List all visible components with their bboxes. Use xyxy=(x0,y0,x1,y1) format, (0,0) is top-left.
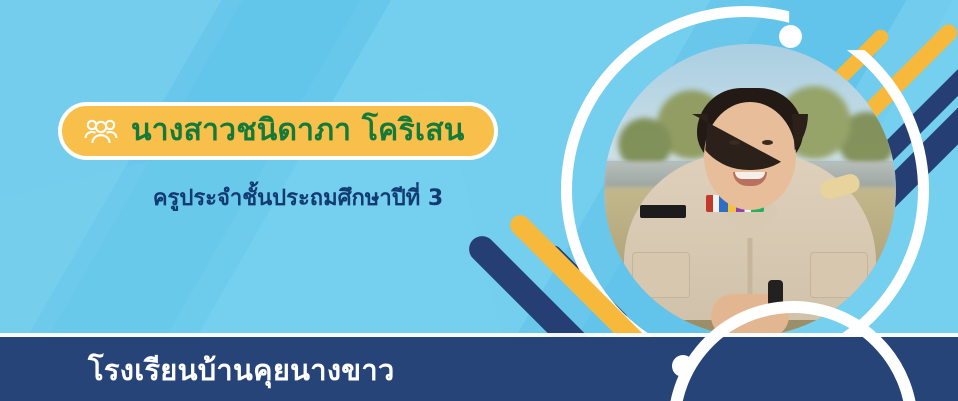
school-name: โรงเรียนบ้านคุยนางขาว xyxy=(88,347,395,393)
white-dot-icon xyxy=(779,25,802,48)
white-dot-icon xyxy=(672,355,694,377)
teacher-name-badge: นางสาวชนิดาภา โคริเสน xyxy=(58,102,498,160)
teacher-profile-banner: นางสาวชนิดาภา โคริเสน ครูประจำชั้นประถมศ… xyxy=(0,0,958,401)
people-group-icon xyxy=(84,116,118,146)
teacher-name: นางสาวชนิดาภา โคริเสน xyxy=(131,116,464,146)
teacher-role-subtitle: ครูประจำชั้นประถมศึกษาปีที่ 3 xyxy=(58,180,538,215)
